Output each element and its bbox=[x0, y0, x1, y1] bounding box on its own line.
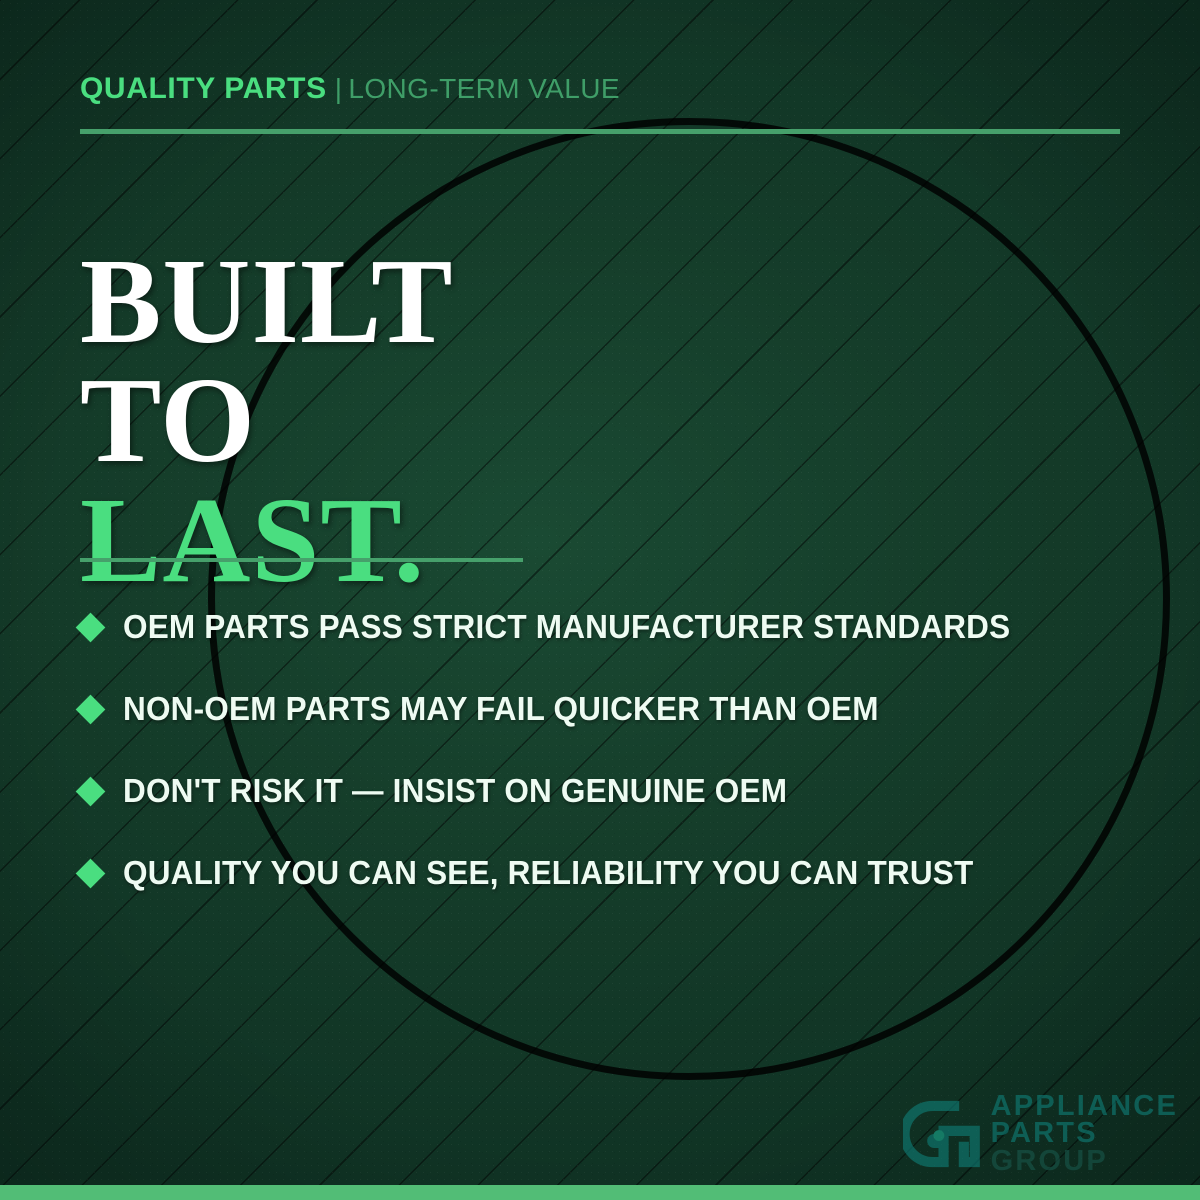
poster-canvas: QUALITY PARTS|LONG-TERM VALUE BUILT TO L… bbox=[0, 0, 1200, 1200]
list-item-label: DON'T RISK IT — INSIST ON GENUINE OEM bbox=[123, 772, 787, 810]
kicker: QUALITY PARTS|LONG-TERM VALUE bbox=[80, 74, 620, 104]
headline-divider-rule bbox=[80, 558, 523, 562]
list-item: QUALITY YOU CAN SEE, RELIABILITY YOU CAN… bbox=[80, 832, 1150, 914]
diamond-icon bbox=[76, 612, 106, 642]
brand-logo: APPLIANCE PARTS GROUP bbox=[903, 1093, 1178, 1176]
diamond-icon bbox=[76, 858, 106, 888]
headline-line-2: TO bbox=[80, 361, 454, 481]
brand-logo-line-1: APPLIANCE bbox=[991, 1093, 1178, 1121]
list-item: OEM PARTS PASS STRICT MANUFACTURER STAND… bbox=[80, 586, 1150, 668]
kicker-main-label: QUALITY PARTS bbox=[80, 72, 327, 105]
headline-line-3: LAST. bbox=[80, 481, 454, 601]
list-item: NON-OEM PARTS MAY FAIL QUICKER THAN OEM bbox=[80, 668, 1150, 750]
page-title: BUILT TO LAST. bbox=[80, 242, 454, 601]
benefit-list: OEM PARTS PASS STRICT MANUFACTURER STAND… bbox=[80, 586, 1150, 914]
list-item-label: NON-OEM PARTS MAY FAIL QUICKER THAN OEM bbox=[123, 690, 879, 728]
brand-logo-wordmark: APPLIANCE PARTS GROUP bbox=[991, 1093, 1178, 1176]
diamond-icon bbox=[76, 776, 106, 806]
list-item-label: OEM PARTS PASS STRICT MANUFACTURER STAND… bbox=[123, 608, 1010, 646]
list-item: DON'T RISK IT — INSIST ON GENUINE OEM bbox=[80, 750, 1150, 832]
diamond-icon bbox=[76, 694, 106, 724]
brand-logo-line-2: PARTS bbox=[991, 1120, 1178, 1148]
kicker-sub-label: LONG-TERM VALUE bbox=[348, 73, 620, 104]
list-item-label: QUALITY YOU CAN SEE, RELIABILITY YOU CAN… bbox=[123, 854, 973, 892]
apg-g-monogram-icon bbox=[903, 1095, 981, 1173]
headline-line-1: BUILT bbox=[80, 242, 454, 362]
header-divider-rule bbox=[80, 129, 1120, 134]
brand-logo-line-3: GROUP bbox=[991, 1148, 1178, 1176]
poster-content: QUALITY PARTS|LONG-TERM VALUE BUILT TO L… bbox=[0, 0, 1200, 1200]
kicker-separator-label: | bbox=[335, 73, 343, 104]
bottom-accent-bar bbox=[0, 1185, 1200, 1200]
